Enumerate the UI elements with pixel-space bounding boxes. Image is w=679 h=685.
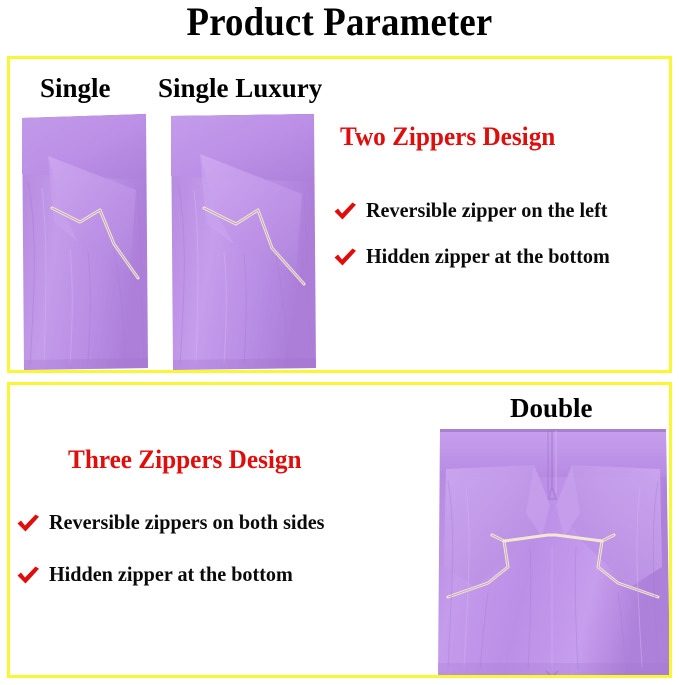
feature-text: Hidden zipper at the bottom — [366, 244, 610, 269]
check-icon — [15, 564, 41, 586]
product-label-single-luxury: Single Luxury — [158, 73, 322, 104]
product-label-single: Single — [40, 73, 111, 104]
check-icon — [15, 512, 41, 534]
feature-item: Hidden zipper at the bottom — [15, 562, 303, 587]
feature-item: Reversible zippers on both sides — [15, 510, 336, 535]
feature-text: Reversible zipper on the left — [366, 198, 608, 223]
page-title: Product Parameter — [27, 0, 652, 45]
heading-two-zippers-design: Two Zippers Design — [340, 122, 555, 152]
bedding-liner-double-image — [430, 417, 672, 678]
product-label-double: Double — [510, 393, 593, 424]
check-icon — [332, 246, 358, 268]
panel-three-zippers: Three Zippers Design Reversible zippers … — [7, 382, 672, 678]
check-icon — [332, 200, 358, 222]
feature-text: Hidden zipper at the bottom — [49, 562, 293, 587]
feature-item: Reversible zipper on the left — [332, 198, 618, 223]
feature-text: Reversible zippers on both sides — [49, 510, 325, 535]
heading-three-zippers-design: Three Zippers Design — [68, 445, 302, 475]
bedding-liner-single-luxury-image — [166, 102, 318, 373]
bedding-liner-single-image — [18, 102, 150, 373]
feature-item: Hidden zipper at the bottom — [332, 244, 620, 269]
panel-two-zippers: Single — [7, 56, 672, 373]
